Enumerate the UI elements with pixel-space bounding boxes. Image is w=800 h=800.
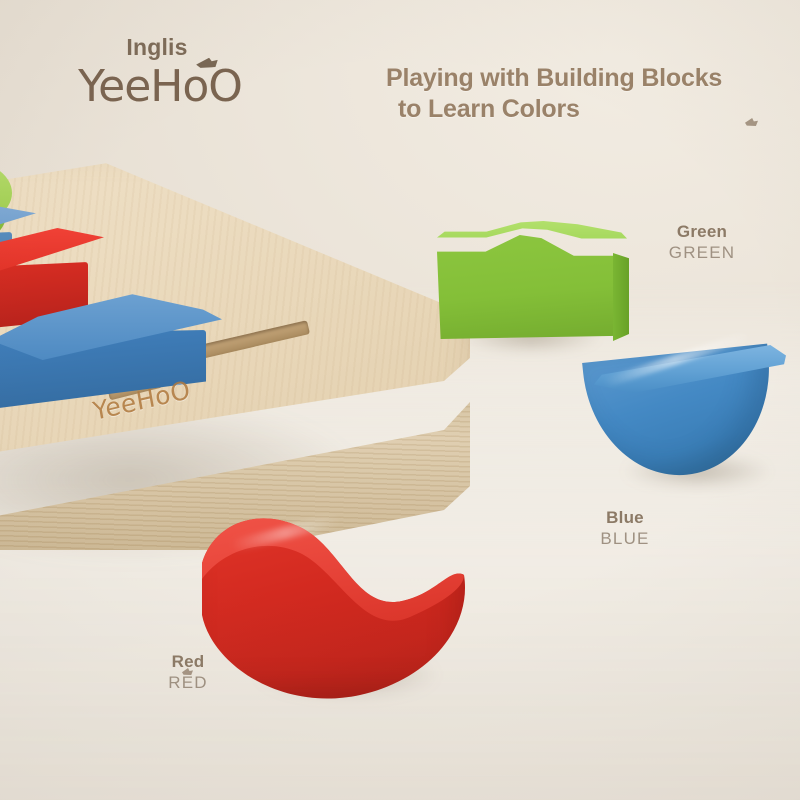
brand-sub-label: Inglis — [24, 36, 290, 59]
headline-line-1: Playing with Building Blocks — [386, 64, 722, 92]
poster-canvas: YeeHoO Green GREEN Blue BLUE Red RED Ing… — [0, 0, 800, 800]
brand-wordmark: YeeHoO — [78, 65, 242, 109]
label-green-bold: Green — [612, 222, 792, 242]
green-block-front-face — [437, 235, 617, 339]
green-wave-block[interactable] — [437, 221, 627, 339]
label-green-caps: GREEN — [612, 242, 792, 264]
label-blue-caps: BLUE — [535, 528, 715, 550]
headline: Playing with Building Blocks to Learn Co… — [386, 63, 800, 124]
label-blue: Blue BLUE — [535, 508, 715, 550]
label-blue-bold: Blue — [535, 508, 715, 528]
label-green: Green GREEN — [612, 222, 792, 264]
blue-halfmoon-block[interactable] — [588, 345, 788, 490]
green-block-side-face — [613, 253, 629, 341]
brand-logo[interactable]: Inglis YeeHoO — [30, 36, 290, 109]
brand-wordmark-wrap: YeeHoO — [78, 65, 242, 109]
headline-line-2: to Learn Colors — [398, 94, 800, 125]
